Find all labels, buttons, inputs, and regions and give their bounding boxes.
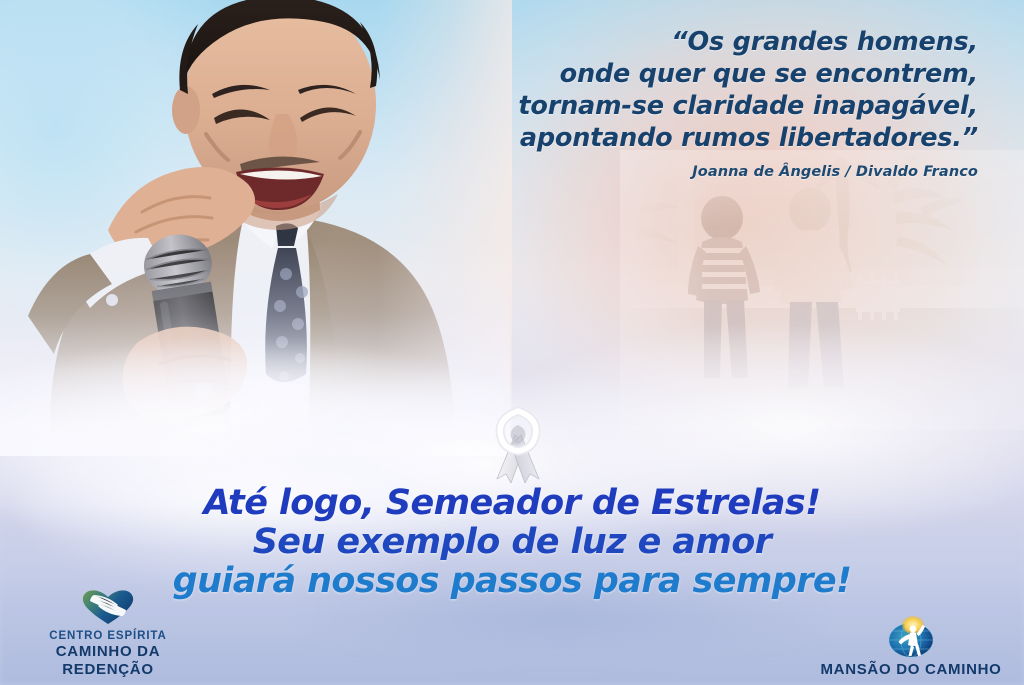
quote-block: “Os grandes homens, onde quer que se enc… [418,26,978,180]
headline-line-1: Até logo, Semeador de Estrelas! [0,484,1024,523]
faded-background-photo [620,150,1024,430]
headline-line-2: Seu exemplo de luz e amor [0,523,1024,562]
memorial-poster: “Os grandes homens, onde quer que se enc… [0,0,1024,685]
logo-centro-espirita[interactable]: CENTRO ESPÍRITA CAMINHO DA REDENÇÃO [8,586,208,679]
quote-line-4: apontando rumos libertadores.” [418,122,978,154]
headline-block: Até logo, Semeador de Estrelas! Seu exem… [0,484,1024,601]
heart-hands-icon [78,586,138,626]
logo-right-line-1: MANSÃO DO CAMINHO [806,661,1016,679]
logo-mansao-do-caminho[interactable]: MANSÃO DO CAMINHO [806,616,1016,679]
white-awareness-ribbon-icon [487,407,549,483]
quote-line-3: tornam-se claridade inapagável, [418,90,978,122]
logo-left-line-2: CAMINHO DA REDENÇÃO [8,643,208,679]
globe-figure-icon [882,616,940,658]
quote-line-1: “Os grandes homens, [418,26,978,58]
logo-left-line-1: CENTRO ESPÍRITA [8,629,208,643]
quote-attribution: Joanna de Ângelis / Divaldo Franco [418,164,978,180]
quote-line-2: onde quer que se encontrem, [418,58,978,90]
